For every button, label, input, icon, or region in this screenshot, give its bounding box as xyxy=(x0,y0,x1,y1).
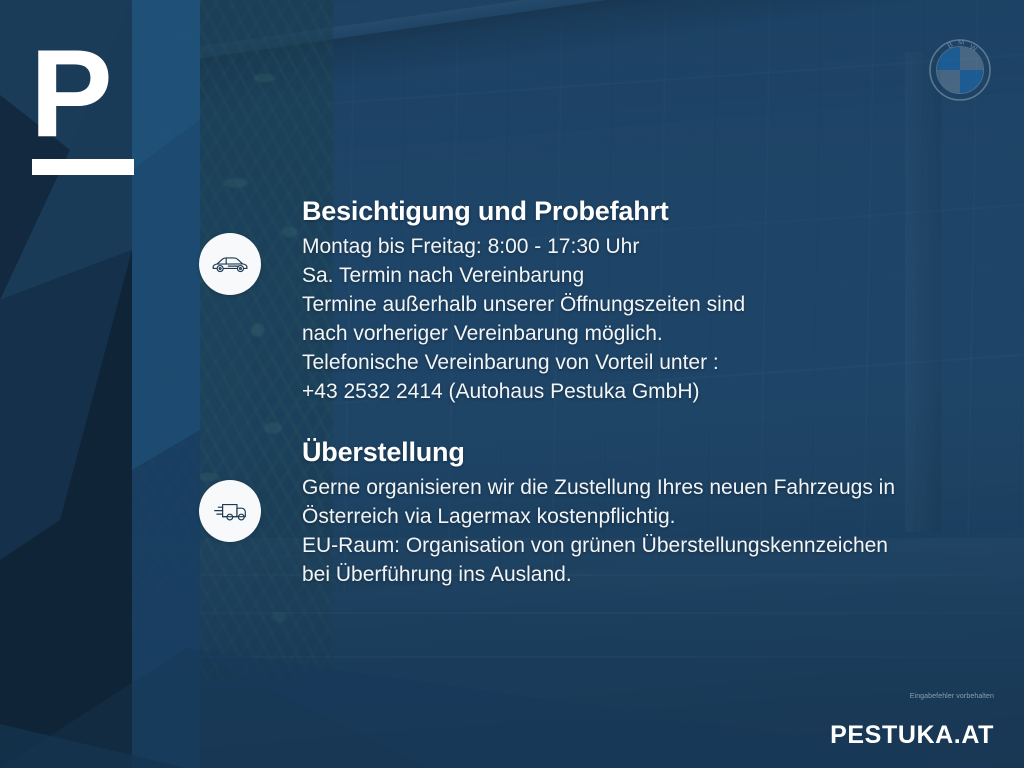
text-line: Telefonische Vereinbarung von Vorteil un… xyxy=(302,348,942,377)
car-side-icon xyxy=(199,233,261,295)
text-line: Sa. Termin nach Vereinbarung xyxy=(302,261,942,290)
bmw-roundel-icon: B M W xyxy=(928,38,992,102)
svg-text:M: M xyxy=(958,38,964,47)
ueberstellung-heading: Überstellung xyxy=(302,437,942,468)
text-line: nach vorheriger Vereinbarung möglich. xyxy=(302,319,942,348)
ueberstellung-text: Überstellung Gerne organisieren wir die … xyxy=(302,437,942,589)
text-line-phone: +43 2532 2414 (Autohaus Pestuka GmbH) xyxy=(302,377,942,406)
text-line: Montag bis Freitag: 8:00 - 17:30 Uhr xyxy=(302,232,942,261)
text-line: Gerne organisieren wir die Zustellung Ih… xyxy=(302,473,942,502)
ueberstellung-paragraph: Gerne organisieren wir die Zustellung Ih… xyxy=(302,473,942,589)
disclaimer-note: Eingabefehler vorbehalten xyxy=(910,693,994,700)
delivery-truck-icon xyxy=(199,480,261,542)
besichtigung-paragraph: Montag bis Freitag: 8:00 - 17:30 Uhr Sa.… xyxy=(302,232,942,406)
footer-wordmark: PESTUKA.AT xyxy=(830,721,994,750)
besichtigung-text: Besichtigung und Probefahrt Montag bis F… xyxy=(302,196,942,406)
text-line: EU-Raum: Organisation von grünen Überste… xyxy=(302,531,942,560)
text-line: bei Überführung ins Ausland. xyxy=(302,560,942,589)
promo-slide: P B M W xyxy=(0,0,1024,768)
text-line: Termine außerhalb unserer Öffnungszeiten… xyxy=(302,290,942,319)
logo-letter: P xyxy=(30,36,150,153)
pestuka-p-logo: P xyxy=(30,36,150,175)
text-line: Österreich via Lagermax kostenpflichtig. xyxy=(302,502,942,531)
besichtigung-heading: Besichtigung und Probefahrt xyxy=(302,196,942,227)
